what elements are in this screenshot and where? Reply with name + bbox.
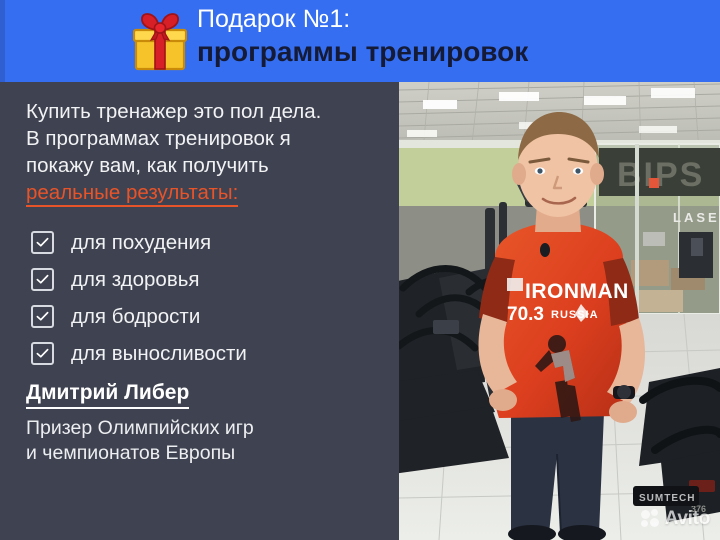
svg-text:RUSSIA: RUSSIA (551, 309, 599, 321)
checklist-item-label: для похудения (71, 231, 211, 254)
lead-highlight: реальные результаты: (26, 181, 238, 207)
benefits-checklist: для похудения для здоровья для бодрости (31, 224, 391, 372)
gift-box-icon (133, 10, 187, 72)
header-left-edge-strip (0, 0, 5, 82)
signature-block: Дмитрий Либер Призер Олимпийских игр и ч… (26, 379, 386, 466)
list-item: для здоровья (31, 261, 391, 298)
avito-watermark-text: Avito (665, 509, 710, 528)
promo-banner: Подарок №1: программы тренировок Купить … (0, 0, 720, 540)
svg-text:LASE: LASE (673, 210, 720, 225)
gym-photo: BIPS LASE (399, 82, 720, 540)
checklist-item-label: для здоровья (71, 268, 200, 291)
author-credentials: Призер Олимпийских игр и чемпионатов Евр… (26, 416, 386, 466)
checkbox-checked-icon (31, 305, 54, 328)
list-item: для похудения (31, 224, 391, 261)
author-credentials-line1: Призер Олимпийских игр (26, 417, 254, 439)
svg-text:IRONMAN: IRONMAN (525, 280, 629, 303)
svg-text:70.3: 70.3 (507, 304, 544, 325)
banner-header: Подарок №1: программы тренировок (0, 0, 720, 82)
author-credentials-line2: и чемпионатов Европы (26, 442, 235, 464)
lead-line-2: В программах тренировок я (26, 127, 291, 150)
header-title-line1: Подарок №1: (197, 4, 717, 34)
lead-line-1: Купить тренажер это пол дела. (26, 100, 321, 123)
header-title-line2: программы тренировок (197, 35, 717, 69)
list-item: для выносливости (31, 335, 391, 372)
content-panel: Купить тренажер это пол дела. В программ… (0, 82, 399, 540)
checkbox-checked-icon (31, 342, 54, 365)
checkbox-checked-icon (31, 231, 54, 254)
header-text-block: Подарок №1: программы тренировок (197, 4, 717, 69)
lead-paragraph: Купить тренажер это пол дела. В программ… (26, 98, 391, 206)
svg-text:SUMTECH: SUMTECH (639, 493, 695, 504)
avito-watermark: Avito (641, 509, 710, 528)
avito-logo-icon (641, 509, 660, 528)
checkbox-checked-icon (31, 268, 54, 291)
lead-line-3: покажу вам, как получить (26, 154, 269, 177)
checklist-item-label: для выносливости (71, 342, 247, 365)
svg-text:BIPS: BIPS (617, 156, 704, 194)
checklist-item-label: для бодрости (71, 305, 200, 328)
author-name: Дмитрий Либер (26, 379, 189, 409)
list-item: для бодрости (31, 298, 391, 335)
